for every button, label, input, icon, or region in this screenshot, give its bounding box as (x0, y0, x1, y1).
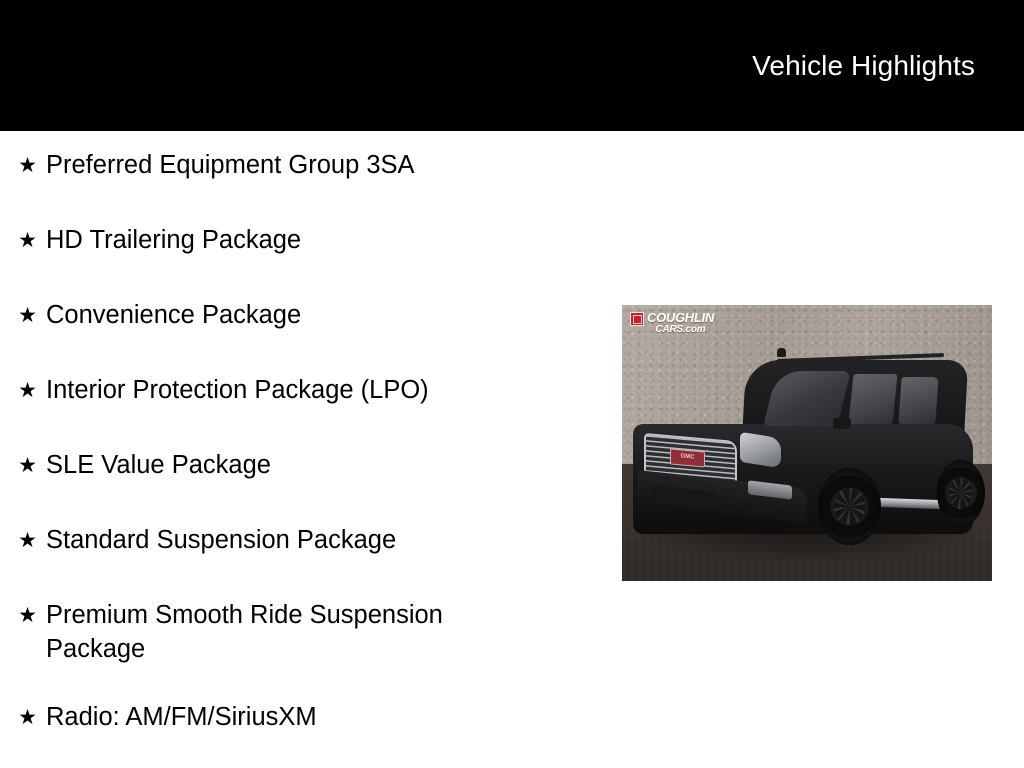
list-item-label: Interior Protection Package (LPO) (46, 373, 516, 407)
vehicle-photo[interactable]: GMC COUGHLIN CARS.com (622, 305, 992, 581)
list-item-label: Radio: AM/FM/SiriusXM (46, 700, 516, 734)
front-door-glass (849, 374, 899, 424)
watermark-line2: CARS.com (647, 325, 714, 335)
list-item-label: Standard Suspension Package (46, 523, 516, 557)
list-item: ★ HD Trailering Package (0, 223, 560, 264)
suv-illustration: GMC (622, 305, 992, 581)
star-icon: ★ (14, 700, 41, 734)
rear-wheel (937, 460, 985, 526)
page-title: Vehicle Highlights (752, 50, 975, 82)
watermark-text: COUGHLIN CARS.com (647, 311, 714, 335)
dealer-watermark: COUGHLIN CARS.com (630, 311, 714, 335)
star-icon: ★ (14, 598, 41, 632)
coughlin-logo-icon (630, 312, 644, 326)
list-item: ★ Radio: AM/FM/SiriusXM (0, 700, 560, 741)
list-item-label: SLE Value Package (46, 448, 516, 482)
star-icon: ★ (14, 298, 41, 332)
rear-door-glass (898, 377, 938, 424)
list-item-label: Premium Smooth Ride Suspension Package (46, 598, 516, 666)
list-item: ★ SLE Value Package (0, 448, 560, 489)
list-item: ★ Preferred Equipment Group 3SA (0, 148, 560, 189)
list-item-label: HD Trailering Package (46, 223, 516, 257)
header-band: Vehicle Highlights (0, 0, 1024, 131)
antenna (777, 348, 785, 358)
list-item-label: Convenience Package (46, 298, 516, 332)
list-item: ★ Interior Protection Package (LPO) (0, 373, 560, 414)
list-item-label: Preferred Equipment Group 3SA (46, 148, 516, 182)
star-icon: ★ (14, 373, 41, 407)
star-icon: ★ (14, 223, 41, 257)
list-item: ★ Convenience Package (0, 298, 560, 339)
star-icon: ★ (14, 523, 41, 557)
vehicle-highlights-list: ★ Preferred Equipment Group 3SA ★ HD Tra… (0, 148, 560, 741)
front-wheel (818, 468, 881, 545)
list-item: ★ Standard Suspension Package (0, 523, 560, 564)
side-mirror (833, 418, 852, 429)
list-item: ★ Premium Smooth Ride Suspension Package (0, 598, 560, 666)
star-icon: ★ (14, 448, 41, 482)
star-icon: ★ (14, 148, 41, 182)
gmc-badge-icon: GMC (670, 448, 705, 467)
watermark-line1: COUGHLIN (647, 311, 714, 324)
